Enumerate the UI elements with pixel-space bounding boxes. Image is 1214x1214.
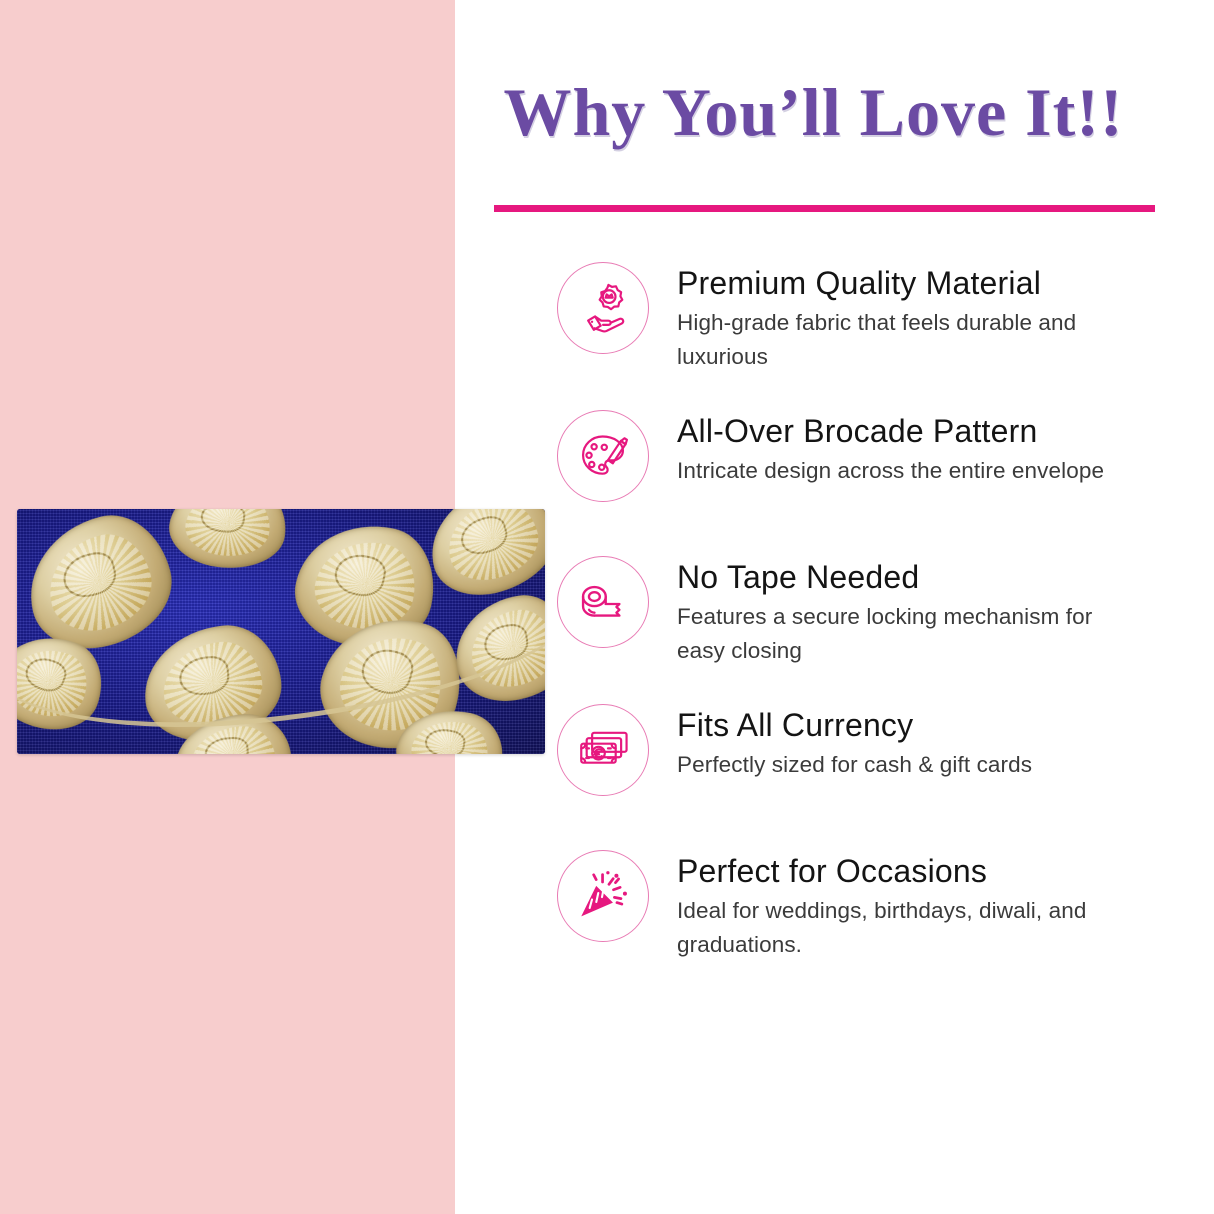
tape-roll-icon	[574, 573, 632, 631]
feature-subtitle: Ideal for weddings, birthdays, diwali, a…	[677, 894, 1137, 962]
feature-icon-circle	[557, 262, 649, 354]
feature-text-block: Premium Quality Material High-grade fabr…	[677, 262, 1137, 374]
feature-item: No Tape Needed Features a secure locking…	[455, 556, 1214, 668]
feature-text-block: No Tape Needed Features a secure locking…	[677, 556, 1137, 668]
feature-text-block: Perfect for Occasions Ideal for weddings…	[677, 850, 1137, 962]
feature-heading: Premium Quality Material	[677, 266, 1137, 302]
feature-subtitle: Perfectly sized for cash & gift cards	[677, 748, 1032, 782]
feature-text-block: All-Over Brocade Pattern Intricate desig…	[677, 410, 1104, 488]
feature-text-block: Fits All Currency Perfectly sized for ca…	[677, 704, 1032, 782]
feature-icon-circle	[557, 704, 649, 796]
page-title: Why You’ll Love It!!	[455, 78, 1172, 146]
feature-heading: No Tape Needed	[677, 560, 1137, 596]
feature-item: Perfect for Occasions Ideal for weddings…	[455, 850, 1214, 962]
feature-heading: Perfect for Occasions	[677, 854, 1137, 890]
feature-subtitle: Intricate design across the entire envel…	[677, 454, 1104, 488]
content-column: Why You’ll Love It!! P	[455, 0, 1214, 1214]
feature-item: All-Over Brocade Pattern Intricate desig…	[455, 410, 1214, 520]
feature-icon-circle	[557, 410, 649, 502]
feature-icon-circle	[557, 850, 649, 942]
title-underline-divider	[494, 205, 1155, 212]
feature-subtitle: High-grade fabric that feels durable and…	[677, 306, 1137, 374]
feature-icon-circle	[557, 556, 649, 648]
feature-subtitle: Features a secure locking mechanism for …	[677, 600, 1137, 668]
feature-item: Fits All Currency Perfectly sized for ca…	[455, 704, 1214, 814]
hand-holding-quality-badge-icon	[574, 279, 632, 337]
feature-heading: Fits All Currency	[677, 708, 1032, 744]
feature-item: Premium Quality Material High-grade fabr…	[455, 262, 1214, 374]
party-popper-icon	[574, 867, 632, 925]
paint-palette-icon	[574, 427, 632, 485]
feature-heading: All-Over Brocade Pattern	[677, 414, 1104, 450]
banknotes-euro-icon	[574, 721, 632, 779]
feature-list: Premium Quality Material High-grade fabr…	[455, 262, 1214, 999]
